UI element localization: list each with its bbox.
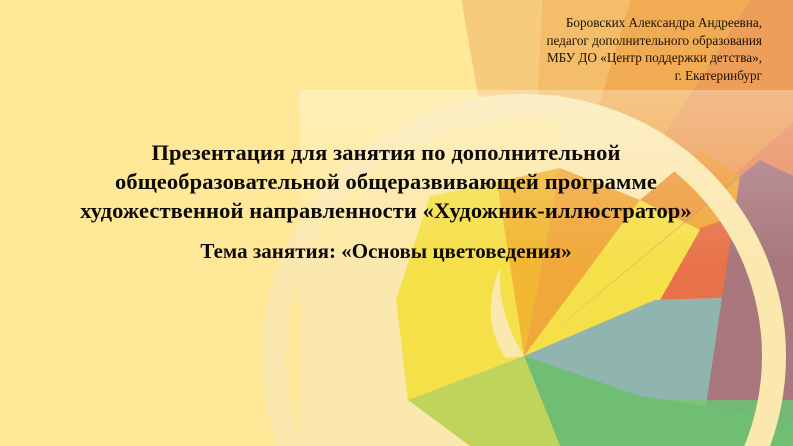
title-line-3: художественной направленности «Художник-…	[36, 196, 736, 225]
credit-line-organization: МБУ ДО «Центр поддержки детства»,	[342, 49, 762, 67]
page-title: Презентация для занятия по дополнительно…	[36, 138, 736, 225]
presentation-title-slide: Боровских Александра Андреевна, педагог …	[0, 0, 793, 446]
title-line-2: общеобразовательной общеразвивающей прог…	[36, 167, 736, 196]
author-credits: Боровских Александра Андреевна, педагог …	[342, 14, 762, 84]
apex-sliver	[491, 268, 524, 358]
subtitle-line-1: Тема занятия: «Основы цветоведения»	[36, 237, 736, 265]
credit-line-role: педагог дополнительного образования	[342, 32, 762, 50]
credit-line-author: Боровских Александра Андреевна,	[342, 14, 762, 32]
title-line-1: Презентация для занятия по дополнительно…	[36, 138, 736, 167]
page-subtitle: Тема занятия: «Основы цветоведения»	[36, 237, 736, 265]
credit-line-city: г. Екатеринбург	[342, 67, 762, 85]
